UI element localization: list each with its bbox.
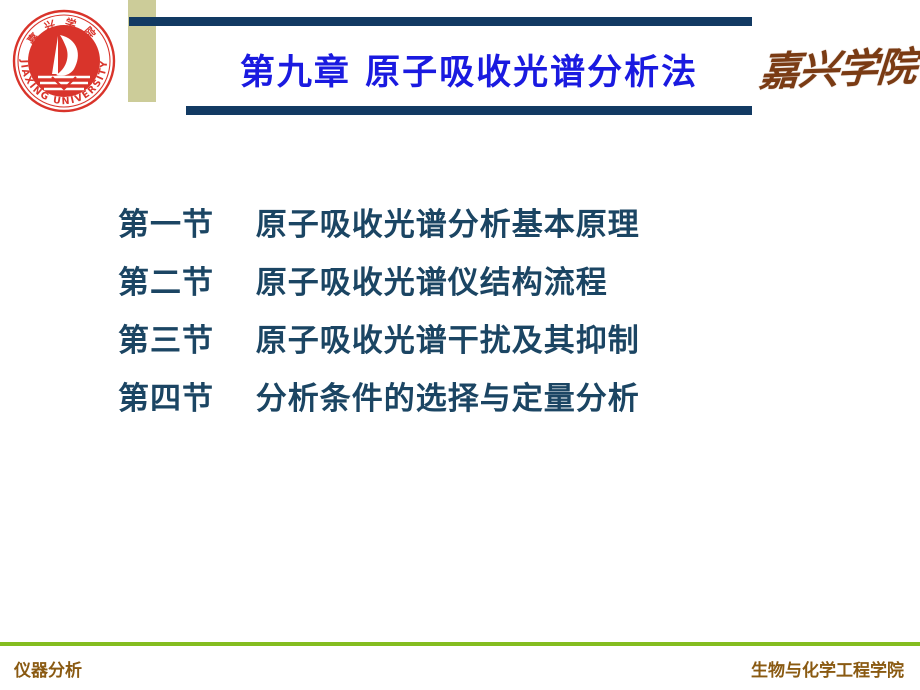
section-title: 分析条件的选择与定量分析	[256, 381, 640, 417]
section-list: 第一节 原子吸收光谱分析基本原理 第二节 原子吸收光谱仪结构流程 第三节 原子吸…	[118, 196, 818, 428]
school-name-calligraphy: 嘉兴学院	[755, 21, 920, 111]
list-item: 第四节 分析条件的选择与定量分析	[118, 370, 818, 428]
slide-header: JIAXING UNIVERSITY 嘉兴学院 第九章 原子吸收光谱分析法 嘉兴…	[0, 0, 920, 135]
chapter-title: 第九章 原子吸收光谱分析法	[186, 36, 752, 102]
section-title: 原子吸收光谱仪结构流程	[256, 265, 608, 301]
section-number: 第二节	[118, 265, 214, 301]
section-title: 原子吸收光谱分析基本原理	[256, 207, 640, 243]
section-number: 第四节	[118, 381, 214, 417]
list-item: 第一节 原子吸收光谱分析基本原理	[118, 196, 818, 254]
section-number: 第三节	[118, 323, 214, 359]
list-item: 第二节 原子吸收光谱仪结构流程	[118, 254, 818, 312]
footer-college-label: 生物与化学工程学院	[751, 656, 904, 681]
presentation-slide: JIAXING UNIVERSITY 嘉兴学院 第九章 原子吸收光谱分析法 嘉兴…	[0, 0, 920, 690]
list-item: 第三节 原子吸收光谱干扰及其抑制	[118, 312, 818, 370]
header-rule-top	[129, 17, 752, 26]
section-number: 第一节	[118, 207, 214, 243]
slide-footer: 仪器分析 生物与化学工程学院	[0, 642, 920, 690]
header-rule-bottom	[186, 106, 752, 115]
khaki-accent-bar	[128, 0, 156, 102]
footer-course-label: 仪器分析	[14, 656, 82, 681]
jiaxing-university-seal-logo: JIAXING UNIVERSITY 嘉兴学院	[8, 5, 120, 117]
footer-divider	[0, 642, 920, 646]
section-title: 原子吸收光谱干扰及其抑制	[256, 323, 640, 359]
